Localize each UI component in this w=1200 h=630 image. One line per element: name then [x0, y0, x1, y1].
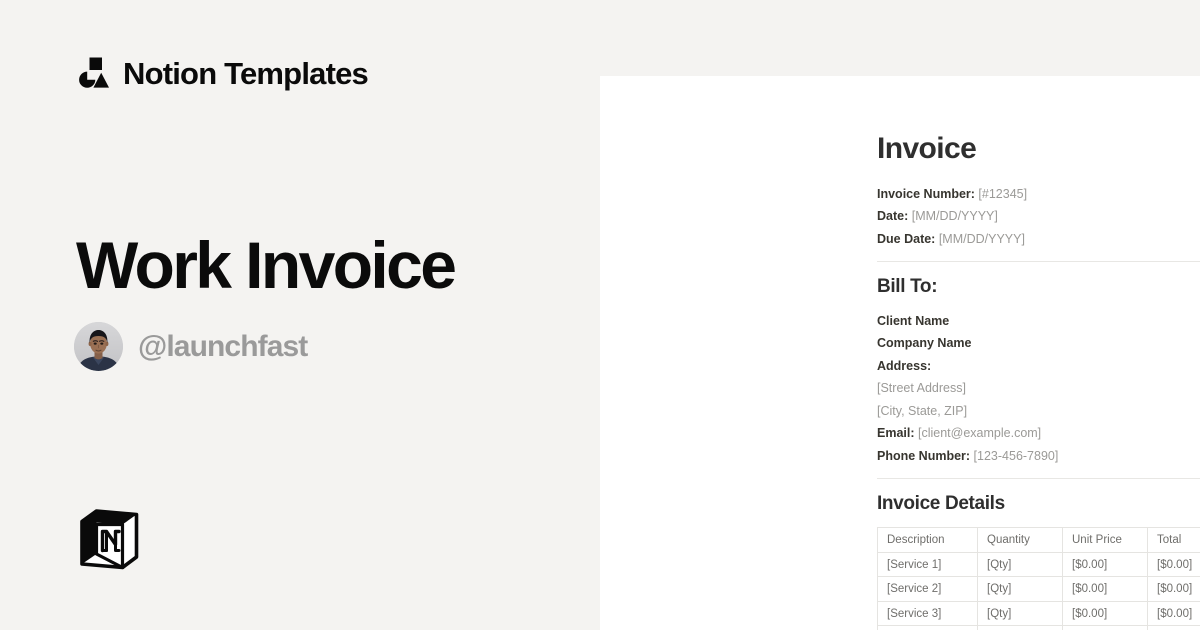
invoice-date-label: Date:	[877, 209, 908, 223]
bill-to-phone-line: Phone Number: [123-456-7890]	[877, 445, 1200, 468]
bill-to-phone-label: Phone Number:	[877, 449, 970, 463]
invoice-due-date-value: [MM/DD/YYYY]	[939, 232, 1025, 246]
bill-to-client-name: Client Name	[877, 310, 1200, 333]
column-header-total: Total	[1148, 528, 1200, 553]
left-hero-panel: Notion Templates Work Invoice	[0, 0, 600, 630]
cell-description: [Service 2]	[878, 577, 978, 602]
cell-description: [Service 3]	[878, 601, 978, 626]
invoice-number-label: Invoice Number:	[877, 187, 975, 201]
brand-name: Notion Templates	[123, 58, 368, 89]
bill-to-heading: Bill To:	[877, 276, 1200, 298]
bill-to-email-value: [client@example.com]	[918, 426, 1041, 440]
cell-total: [$0.00]	[1148, 577, 1200, 602]
table-row: [Service 2] [Qty] [$0.00] [$0.00]	[878, 577, 1200, 602]
column-header-description: Description	[878, 528, 978, 553]
cell-total: [$0.00]	[1148, 601, 1200, 626]
user-avatar-photo	[74, 322, 123, 371]
invoice-details-heading: Invoice Details	[877, 493, 1200, 515]
bill-to-email-line: Email: [client@example.com]	[877, 422, 1200, 445]
invoice-heading: Invoice	[877, 132, 1200, 166]
brand-header: Notion Templates	[76, 56, 368, 90]
invoice-number-value: [#12345]	[978, 187, 1027, 201]
cell-quantity: [Qty]	[978, 601, 1063, 626]
cell-description: [Service 1]	[878, 552, 978, 577]
cell-unit-price: [$0.00]	[1063, 626, 1148, 630]
cell-quantity: [Qty]	[978, 552, 1063, 577]
cell-total: [$0.00]	[1148, 552, 1200, 577]
cell-total: [$0.00]	[1148, 626, 1200, 630]
cell-description: [Service 4]	[878, 626, 978, 630]
cell-unit-price: [$0.00]	[1063, 552, 1148, 577]
cell-quantity: [Qty]	[978, 577, 1063, 602]
column-header-unit-price: Unit Price	[1063, 528, 1148, 553]
table-row: [Service 4] [Qty] [$0.00] [$0.00]	[878, 626, 1200, 630]
cell-unit-price: [$0.00]	[1063, 577, 1148, 602]
invoice-due-date-line: Due Date: [MM/DD/YYYY]	[877, 228, 1200, 251]
invoice-document: Invoice Invoice Number: [#12345] Date: […	[877, 132, 1200, 630]
cell-unit-price: [$0.00]	[1063, 601, 1148, 626]
table-row: [Service 1] [Qty] [$0.00] [$0.00]	[878, 552, 1200, 577]
notion-templates-shapes-icon	[76, 56, 110, 90]
invoice-date-value: [MM/DD/YYYY]	[912, 209, 998, 223]
table-row: [Service 3] [Qty] [$0.00] [$0.00]	[878, 601, 1200, 626]
template-preview-card: Invoice Invoice Number: [#12345] Date: […	[600, 76, 1200, 630]
table-header-row: Description Quantity Unit Price Total	[878, 528, 1200, 553]
cell-quantity: [Qty]	[978, 626, 1063, 630]
bill-to-address-label: Address:	[877, 355, 1200, 378]
invoice-details-table: Description Quantity Unit Price Total [S…	[877, 527, 1200, 630]
divider-after-bill-to	[877, 478, 1200, 479]
divider-after-meta	[877, 261, 1200, 262]
bill-to-phone-value: [123-456-7890]	[974, 449, 1059, 463]
bill-to-company-name: Company Name	[877, 332, 1200, 355]
notion-cube-icon	[76, 505, 144, 573]
bill-to-city-state-zip: [City, State, ZIP]	[877, 400, 1200, 423]
invoice-date-line: Date: [MM/DD/YYYY]	[877, 205, 1200, 228]
invoice-due-date-label: Due Date:	[877, 232, 935, 246]
author-handle: @launchfast	[138, 332, 307, 362]
bill-to-street: [Street Address]	[877, 377, 1200, 400]
invoice-number-line: Invoice Number: [#12345]	[877, 183, 1200, 206]
column-header-quantity: Quantity	[978, 528, 1063, 553]
author-block: @launchfast	[74, 322, 307, 371]
page-title: Work Invoice	[76, 229, 454, 303]
bill-to-email-label: Email:	[877, 426, 915, 440]
